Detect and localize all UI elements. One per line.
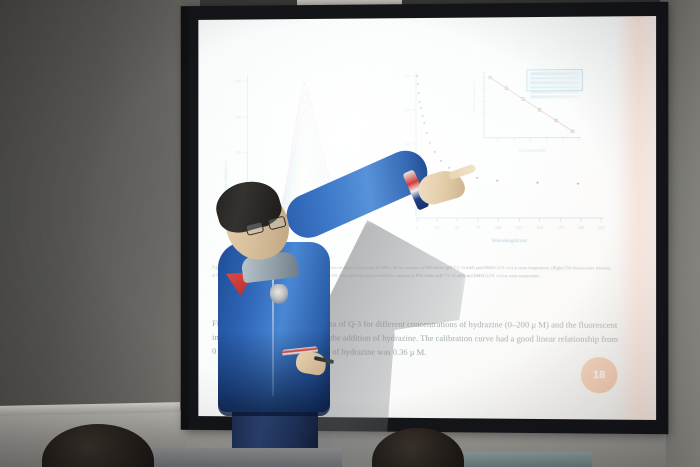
slide-page-badge: 18 (581, 357, 618, 394)
inset-linear-calibration: Concentration/μM Fluorescent intensity/a… (468, 67, 589, 158)
presenter (196, 180, 426, 467)
svg-text:200: 200 (578, 225, 585, 230)
wall-left (0, 0, 200, 467)
svg-text:100: 100 (495, 225, 502, 230)
svg-text:50: 50 (455, 225, 460, 230)
svg-text:25: 25 (435, 225, 440, 230)
scatter-x-axis-label: Wavelength/nm (492, 238, 528, 244)
svg-text:300: 300 (404, 142, 410, 147)
svg-text:350: 350 (404, 108, 410, 113)
svg-text:400: 400 (235, 79, 241, 84)
svg-text:125: 125 (516, 225, 523, 230)
inset-x-axis-label: Concentration/μM (519, 149, 547, 153)
inset-legend-box (526, 69, 583, 91)
chart-intensity-vs-concentration: 400 350 300 250 (396, 65, 612, 246)
inset-y-axis-label: Fluorescent intensity/a.u. (472, 81, 476, 113)
svg-text:75: 75 (476, 225, 481, 230)
svg-text:200: 200 (235, 150, 241, 155)
jacket-emblem (270, 284, 288, 304)
svg-text:175: 175 (557, 225, 564, 230)
svg-text:150: 150 (536, 225, 543, 230)
svg-text:300: 300 (235, 114, 241, 119)
lecture-hall-photo: 400 300 200 100 (0, 0, 700, 467)
svg-text:225: 225 (598, 225, 606, 230)
svg-text:400: 400 (404, 74, 410, 79)
audience-desk-right (462, 452, 592, 467)
audience-desk-left (152, 448, 342, 467)
